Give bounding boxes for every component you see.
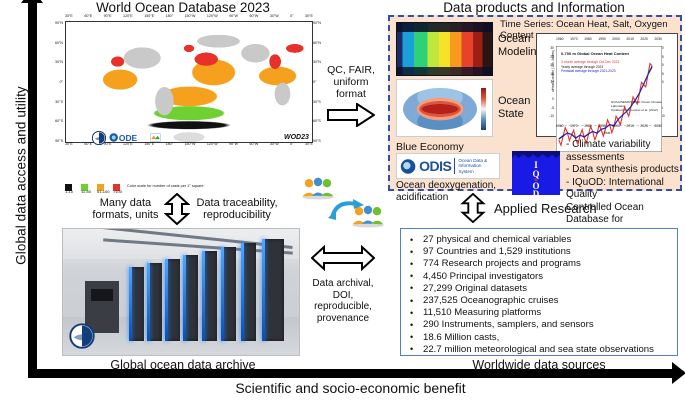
chart-legend-entry: 3-month average through Oct-Dec 2023 [561,60,619,65]
map-lat-tick: 90°N [313,21,321,25]
data-source-item: 774 Research projects and programs [407,258,673,270]
ocean-state-thumbnail [396,79,493,137]
arrow-up-down-icon [164,193,190,225]
server-rack [129,267,144,341]
arrow-right-icon [327,103,375,127]
chart-x-tick: 1980 [584,124,592,128]
chart-x-tick: 2000 [612,37,620,41]
chart-credit-line-1: NOAA/NESDIS/NCEI Ocean Climate Laborator… [611,100,677,108]
applied-research-block: Applied Research [460,193,680,223]
server-rack [221,247,236,341]
applied-research-item: - Climate variability assessments [566,139,684,164]
chart-inner-title: 0-700 m Global Ocean Heat Content [561,51,629,56]
global-ocean-data-archive-caption: Global ocean data archive [38,358,328,372]
qc-fair-uniform-format-block: QC, FAIR, uniform format [320,64,382,132]
data-archival-block: Data archival, DOI, reproducible, proven… [304,245,382,324]
iquod-logo: I Q u O D [512,151,560,195]
server-rack [241,243,256,341]
blue-economy-label: Blue Economy [396,141,464,153]
qc-line-2: uniform [320,76,382,88]
ocean-heat-content-chart: 19601970198019902000201020202030 3025201… [536,33,678,137]
chart-x-tick: 1980 [584,37,592,41]
chart-x-tick: 2020 [640,37,648,41]
world-ocean-database-map-panel: World Ocean Database 2023 30°E60°E90°E12… [38,0,328,190]
chart-x-tick: 2010 [626,37,634,41]
curved-double-arrow-icon [326,196,366,222]
noaa-logo [69,323,95,349]
map-lat-tick: 30°N [55,60,63,64]
chart-x-tick: 1960 [556,124,564,128]
data-source-item: 11,510 Measuring platforms [407,307,673,319]
formats-left-line-2: formats, units [92,209,158,222]
worldwide-data-sources-box: 27 physical and chemical variables97 Cou… [400,228,678,356]
map-title: World Ocean Database 2023 [38,0,328,14]
chart-y-tick: 0 [552,97,554,101]
data-source-item: 22.7 million meteorological and sea stat… [407,344,673,356]
map-legend-caption: Color scale for number of casts per 1° s… [127,184,315,188]
map-lon-tick: 90°E [104,142,112,150]
data-source-item: 237,525 Oceanographic cruises [407,295,673,307]
chart-x-tick: 2000 [612,124,620,128]
chart-x-tick: 1970 [570,124,578,128]
odis-globe-icon [400,158,416,175]
chart-xticks-bottom: 19601970198019902000201020202030 [556,124,662,128]
map-lon-tick: 120°W [207,142,218,150]
chart-x-tick: 1970 [570,37,578,41]
chart-credit-line-2: Updated from Levitus et al. (2012) [611,108,677,112]
chart-x-axis-label: Year [537,131,677,135]
chart-x-tick: 1960 [556,37,564,41]
chart-x-tick: 2010 [626,124,634,128]
data-source-item: 4,450 Principal investigators [407,271,673,283]
chart-legend: 3-month average through Oct-Dec 2023Year… [561,60,619,74]
archival-line-4: provenance [304,313,382,325]
chart-x-tick: 1990 [598,124,606,128]
archival-line-1: Data archival, [304,278,382,290]
archival-line-2: DOI, [304,290,382,302]
formats-right-line-1: Data traceability, [196,197,277,210]
map-figure: 30°E60°E90°E120°E150°E180°150°W120°W90°W… [43,14,326,166]
worldwide-data-sources-caption: Worldwide data sources [400,358,678,372]
chart-y-tick: -10 [549,114,554,118]
server-rack [165,259,180,341]
worldwide-data-sources-list: 27 physical and chemical variables97 Cou… [407,234,673,356]
map-lat-tick: 60°N [313,41,321,45]
chart-xticks-top: 19601970198019902000201020202030 [556,37,662,41]
map-lat-tick: 60°N [55,41,63,45]
server-rack [183,255,198,341]
chart-y-tick: -5 [551,106,554,110]
map-lon-tick: 30°E [65,142,73,150]
chart-x-tick: 2030 [654,124,662,128]
data-source-item: 27,299 Original datasets [407,283,673,295]
odis-logo-box: ODIS Ocean Data & Information System [396,153,500,179]
map-lon-tick: 150°W [185,142,196,150]
data-products-panel: Ocean Modeling Ocean State Time Series: … [388,15,682,191]
odis-subtitle-line-2: Information System [458,163,496,174]
deoxy-line-1: Ocean deoxygenation, [396,180,508,192]
map-lon-tick: 120°E [123,142,133,150]
data-archival-text: Data archival, DOI, reproducible, proven… [304,278,382,324]
map-lon-tick: 60°W [250,142,259,150]
chart-credit: NOAA/NESDIS/NCEI Ocean Climate Laborator… [611,100,677,112]
people-exchange-group [300,176,392,230]
chart-y-axis-label: Heat Content (10²² Joules) [551,50,555,90]
ocean-state-colorbar [481,88,486,130]
archival-line-3: reproducible, [304,301,382,313]
vertical-axis-arrow [28,2,37,376]
map-lat-tick: 60°S [55,119,63,123]
server-rack [202,251,217,341]
ocean-state-map [403,88,477,130]
server-rack [262,239,284,341]
qc-line-1: QC, FAIR, [320,64,382,76]
chart-x-tick: 2020 [640,124,648,128]
data-products-title: Data products and Information [386,0,682,15]
map-lon-tick: 150°E [144,142,154,150]
applied-research-label: Applied Research [494,201,597,216]
map-lon-tick: 30°E [305,142,313,150]
map-lon-tick: 0° [290,142,293,150]
formats-left-line-1: Many data [92,197,158,210]
qc-line-3: format [320,88,382,100]
arrow-left-right-icon [311,245,375,271]
data-source-item: 18.6 Million casts, [407,332,673,344]
formats-right-line-2: reproducibility [196,209,277,222]
map-latitude-ticks-left: 90°N60°N30°N0°30°S60°S90°S [43,21,63,143]
map-lon-tick: 30°W [270,142,279,150]
data-center-photo [62,228,300,356]
map-lat-tick: 0° [60,80,63,84]
map-lat-tick: 90°S [55,139,63,143]
data-source-item: 97 Countries and 1,529 institutions [407,246,673,258]
map-lat-tick: 90°S [313,139,321,143]
applied-research-items: - Climate variability assessments- Data … [566,139,684,239]
global-cast-density-map: ODE WOD23 [65,21,313,143]
map-lon-tick: 60°E [84,142,92,150]
many-data-formats-text: Many data formats, units [92,197,158,222]
odis-wordmark: ODIS [419,158,451,174]
chart-x-tick: 1990 [598,37,606,41]
map-lat-tick: 90°N [55,21,63,25]
server-rack [147,263,162,341]
odis-subtitle: Ocean Data & Information System [454,158,496,175]
ocean-modeling-thumbnail [396,22,493,76]
map-lat-tick: 0° [313,80,316,84]
chart-x-tick: 2030 [654,37,662,41]
arrow-up-down-icon [460,193,486,223]
map-longitude-ticks-bottom: 30°E60°E90°E120°E150°E180°150°W120°W90°W… [65,142,313,150]
applied-research-item: - Data synthesis products [566,164,684,177]
data-source-item: 27 physical and chemical variables [407,234,673,246]
data-source-item: 290 Instruments, samplers, and sensors [407,319,673,331]
horizontal-axis-label: Scientific and socio-economic benefit [28,380,673,396]
map-lat-tick: 30°S [55,100,63,104]
chart-legend-entry: Pentadal average through 2021-2023 [561,69,619,74]
map-lon-tick: 90°W [229,142,238,150]
formats-traceability-row: Many data formats, units Data traceabili… [60,193,310,225]
data-traceability-text: Data traceability, reproducibility [196,197,277,222]
vertical-axis-label: Global data access and utility [14,71,29,281]
map-lon-tick: 180° [166,142,173,150]
map-watermark: WOD23 [284,134,309,141]
qc-text: QC, FAIR, uniform format [320,64,382,100]
